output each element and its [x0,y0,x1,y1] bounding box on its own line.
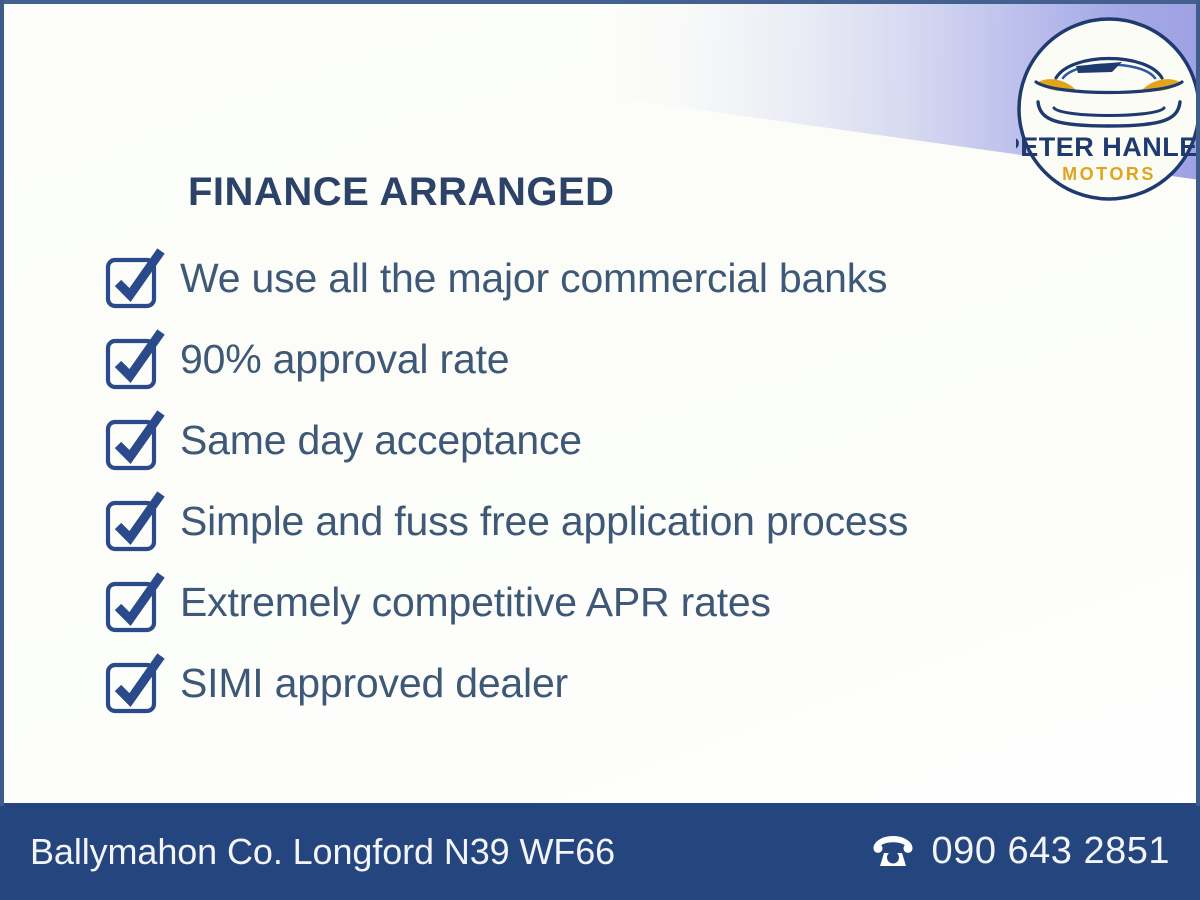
card-border-right [1196,0,1200,806]
list-item: Simple and fuss free application process [104,481,1104,562]
list-item-label: Same day acceptance [180,420,582,461]
checkbox-checked-icon [104,410,166,472]
peter-hanley-motors-logo: PETER HANLEY MOTORS [1016,16,1200,202]
checkbox-checked-icon [104,653,166,715]
list-item: We use all the major commercial banks [104,238,1104,319]
checkbox-checked-icon [104,572,166,634]
list-item-label: Simple and fuss free application process [180,501,908,542]
card-border-left [0,0,4,806]
list-item: Extremely competitive APR rates [104,562,1104,643]
benefits-list: We use all the major commercial banks 90… [104,238,1104,724]
footer-phone-group: 090 643 2851 [872,830,1170,873]
checkbox-checked-icon [104,248,166,310]
list-item-label: SIMI approved dealer [180,663,568,704]
list-item-label: Extremely competitive APR rates [180,582,771,623]
list-item-label: We use all the major commercial banks [180,258,887,299]
card-border-top [0,0,1200,4]
list-item: 90% approval rate [104,319,1104,400]
list-item: SIMI approved dealer [104,643,1104,724]
logo-svg: PETER HANLEY MOTORS [1016,16,1200,202]
card-surface: PETER HANLEY MOTORS FINANCE ARRANGED We … [0,0,1200,900]
finance-advert-card: PETER HANLEY MOTORS FINANCE ARRANGED We … [0,0,1200,900]
footer-address: Ballymahon Co. Longford N39 WF66 [30,831,615,873]
checkbox-checked-icon [104,329,166,391]
logo-name-top: PETER HANLEY [1016,132,1200,162]
telephone-icon [872,835,914,869]
page-title: FINANCE ARRANGED [188,170,615,215]
checkbox-checked-icon [104,491,166,553]
list-item-label: 90% approval rate [180,339,509,380]
footer-contact-bar: Ballymahon Co. Longford N39 WF66 090 643… [0,803,1200,900]
list-item: Same day acceptance [104,400,1104,481]
footer-phone-number: 090 643 2851 [932,830,1170,873]
logo-name-bottom: MOTORS [1062,164,1156,184]
